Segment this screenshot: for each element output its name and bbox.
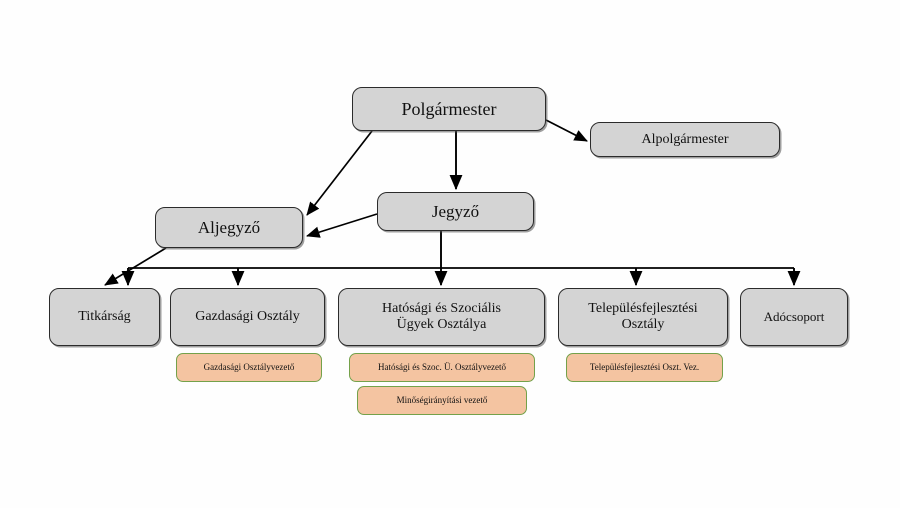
role-label: Gazdasági Osztályvezető [200, 362, 299, 372]
node-hatosagi-osztaly[interactable]: Hatósági és Szociális Ügyek Osztálya [338, 288, 545, 346]
edge-polgarmester-to-alpolgarmester [546, 120, 587, 141]
node-aljegyzo[interactable]: Aljegyző [155, 207, 303, 248]
role-label: Hatósági és Szoc. Ü. Osztályvezető [374, 362, 510, 372]
node-adocsoport[interactable]: Adócsoport [740, 288, 848, 346]
role-gazdasagi-osztalyvezeto[interactable]: Gazdasági Osztályvezető [176, 353, 322, 382]
node-label: Alpolgármester [637, 132, 732, 148]
node-jegyzo[interactable]: Jegyző [377, 192, 534, 231]
node-label: Hatósági és Szociális Ügyek Osztálya [378, 301, 505, 332]
connector-layer [0, 0, 900, 508]
role-hatosagi-osztalyvezeto[interactable]: Hatósági és Szoc. Ü. Osztályvezető [349, 353, 535, 382]
edge-aljegyzo-to-titkarsag [105, 248, 166, 285]
node-label: Polgármester [398, 99, 501, 119]
edge-jegyzo-to-aljegyzo [307, 214, 377, 236]
role-label: Minőségirányítási vezető [393, 395, 492, 405]
node-titkarsag[interactable]: Titkárság [49, 288, 160, 346]
role-minosegiranyitasi-vezeto[interactable]: Minőségirányítási vezető [357, 386, 527, 415]
node-alpolgarmester[interactable]: Alpolgármester [590, 122, 780, 157]
org-chart-canvas: Polgármester Alpolgármester Jegyző Aljeg… [0, 0, 900, 508]
node-label: Jegyző [428, 202, 483, 221]
node-polgarmester[interactable]: Polgármester [352, 87, 546, 131]
node-label: Településfejlesztési Osztály [584, 301, 701, 332]
node-label: Titkárság [74, 309, 134, 325]
edge-polgarmester-to-aljegyzo [307, 131, 372, 215]
node-gazdasagi-osztaly[interactable]: Gazdasági Osztály [170, 288, 325, 346]
node-label: Aljegyző [194, 218, 264, 237]
node-label: Gazdasági Osztály [191, 309, 304, 325]
role-label: Településfejlesztési Oszt. Vez. [586, 362, 703, 372]
node-telepulesfejlesztesi-osztaly[interactable]: Településfejlesztési Osztály [558, 288, 728, 346]
node-label: Adócsoport [760, 310, 829, 325]
role-telepulesfejlesztesi-oszt-vez[interactable]: Településfejlesztési Oszt. Vez. [566, 353, 723, 382]
